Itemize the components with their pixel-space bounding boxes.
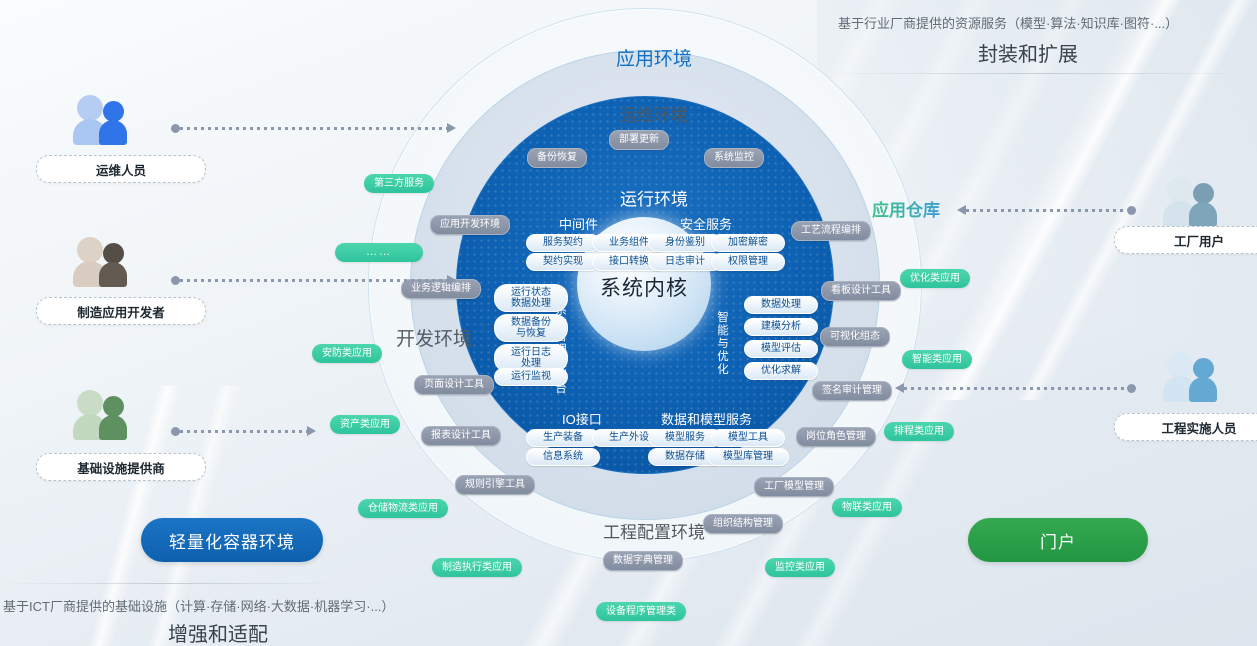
section-middleware: 中间件 <box>559 214 598 233</box>
ops-pill-backup-restore[interactable]: 备份恢复 <box>527 148 587 168</box>
runtime-pill-model-evaluation[interactable]: 模型评估 <box>744 340 818 358</box>
app-pill-third-party-service[interactable]: 第三方服务 <box>364 174 434 193</box>
cfg-pill-signature-audit-mgmt[interactable]: 签名审计管理 <box>812 381 892 401</box>
avatar-operations-staff <box>73 93 137 157</box>
system-kernel-label: 系统内核 <box>577 272 711 302</box>
app-pill-warehouse-logistics-apps[interactable]: 仓储物流类应用 <box>358 499 448 518</box>
runtime-pill-data-backup-restore[interactable]: 数据备份与恢复 <box>494 314 568 342</box>
stakeholder-tag-factory-user[interactable]: 工厂用户 <box>1114 226 1257 254</box>
runtime-pill-permission-mgmt[interactable]: 权限管理 <box>711 253 785 271</box>
cfg-pill-process-flow-orchestration[interactable]: 工艺流程编排 <box>791 221 871 241</box>
runtime-pill-runtime-monitor[interactable]: 运行监视 <box>494 368 568 386</box>
cfg-pill-data-dictionary-mgmt[interactable]: 数据字典管理 <box>603 551 683 571</box>
runtime-pill-modeling-analysis[interactable]: 建模分析 <box>744 318 818 336</box>
app-pill-intelligent-apps[interactable]: 智能类应用 <box>902 350 972 369</box>
runtime-pill-information-system[interactable]: 信息系统 <box>526 448 600 466</box>
application-repository-label: 应用仓库 <box>872 196 940 221</box>
cfg-pill-org-structure-mgmt[interactable]: 组织结构管理 <box>703 514 783 534</box>
stakeholder-tag-operations-staff[interactable]: 运维人员 <box>36 155 206 183</box>
diagram-canvas: 应用环境 运维环境 运行环境 工程配置环境 开发环境 系统内核 系统管理控制台 … <box>0 0 1257 646</box>
dev-pill-page-design-tool[interactable]: 页面设计工具 <box>414 375 494 395</box>
caption-bottom-left-subtitle: 基于ICT厂商提供的基础设施（计算·存储·网络·大数据·机器学习·...） <box>3 596 394 615</box>
app-pill-ellipsis[interactable]: …… <box>335 243 423 262</box>
stakeholder-tag-manufacturing-app-developer[interactable]: 制造应用开发者 <box>36 297 206 325</box>
ring-title-development: 开发环境 <box>396 324 472 351</box>
caption-top-right-title: 封装和扩展 <box>978 38 1078 67</box>
runtime-pill-model-repo-mgmt[interactable]: 模型库管理 <box>707 448 789 466</box>
lightweight-container-environment-button[interactable]: 轻量化容器环境 <box>141 518 323 562</box>
ops-pill-deploy-update[interactable]: 部署更新 <box>609 130 669 150</box>
app-pill-monitoring-apps[interactable]: 监控类应用 <box>765 558 835 577</box>
dev-pill-rule-engine-tool[interactable]: 规则引擎工具 <box>455 475 535 495</box>
app-pill-optimization-apps[interactable]: 优化类应用 <box>900 269 970 288</box>
cfg-pill-visual-configuration[interactable]: 可视化组态 <box>820 327 890 347</box>
dev-pill-app-dev-env[interactable]: 应用开发环境 <box>430 215 510 235</box>
dev-pill-report-design-tool[interactable]: 报表设计工具 <box>421 426 501 446</box>
connector-engineering-implementation-staff <box>895 383 1136 393</box>
runtime-pill-optimization-solving[interactable]: 优化求解 <box>744 362 818 380</box>
section-security-service: 安全服务 <box>680 214 732 233</box>
divider-bottom-left <box>0 583 340 584</box>
app-pill-device-program-mgmt[interactable]: 设备程序管理类 <box>596 602 686 621</box>
connector-infrastructure-provider <box>171 426 316 436</box>
portal-button[interactable]: 门户 <box>968 518 1148 562</box>
cfg-pill-position-role-mgmt[interactable]: 岗位角色管理 <box>796 427 876 447</box>
runtime-pill-runtime-state-data[interactable]: 运行状态数据处理 <box>494 284 568 312</box>
runtime-pill-production-equipment[interactable]: 生产装备 <box>526 429 600 447</box>
stakeholder-tag-infrastructure-provider[interactable]: 基础设施提供商 <box>36 453 206 481</box>
runtime-pill-model-tool[interactable]: 模型工具 <box>711 429 785 447</box>
avatar-manufacturing-app-developer <box>73 235 137 299</box>
app-pill-iot-apps[interactable]: 物联类应用 <box>832 498 902 517</box>
caption-top-right-subtitle: 基于行业厂商提供的资源服务（模型·算法·知识库·图符·...） <box>838 13 1178 32</box>
ops-pill-system-monitor[interactable]: 系统监控 <box>704 148 764 168</box>
app-pill-scheduling-apps[interactable]: 排程类应用 <box>884 422 954 441</box>
cfg-pill-factory-model-mgmt[interactable]: 工厂模型管理 <box>754 477 834 497</box>
app-pill-manufacturing-execution-apps[interactable]: 制造执行类应用 <box>432 558 522 577</box>
stakeholder-tag-engineering-implementation-staff[interactable]: 工程实施人员 <box>1114 413 1257 441</box>
runtime-pill-data-processing[interactable]: 数据处理 <box>744 296 818 314</box>
cfg-pill-kanban-design-tool[interactable]: 看板设计工具 <box>821 281 901 301</box>
section-io-interface: IO接口 <box>562 409 602 428</box>
app-pill-security-apps[interactable]: 安防类应用 <box>312 344 382 363</box>
connector-manufacturing-app-developer <box>171 275 456 285</box>
avatar-infrastructure-provider <box>73 388 137 452</box>
avatar-engineering-implementation-staff <box>1163 350 1227 414</box>
connector-operations-staff <box>171 123 456 133</box>
connector-factory-user <box>957 205 1136 215</box>
label-intelligence-optimization: 智能与优化 <box>713 312 733 377</box>
divider-top-right <box>820 73 1257 74</box>
section-data-model-service: 数据和模型服务 <box>661 409 752 428</box>
runtime-pill-encryption[interactable]: 加密解密 <box>711 234 785 252</box>
caption-bottom-left-title: 增强和适配 <box>168 618 268 646</box>
app-pill-asset-apps[interactable]: 资产类应用 <box>330 415 400 434</box>
runtime-pill-service-contract[interactable]: 服务契约 <box>526 234 600 252</box>
runtime-pill-contract-impl[interactable]: 契约实现 <box>526 253 600 271</box>
